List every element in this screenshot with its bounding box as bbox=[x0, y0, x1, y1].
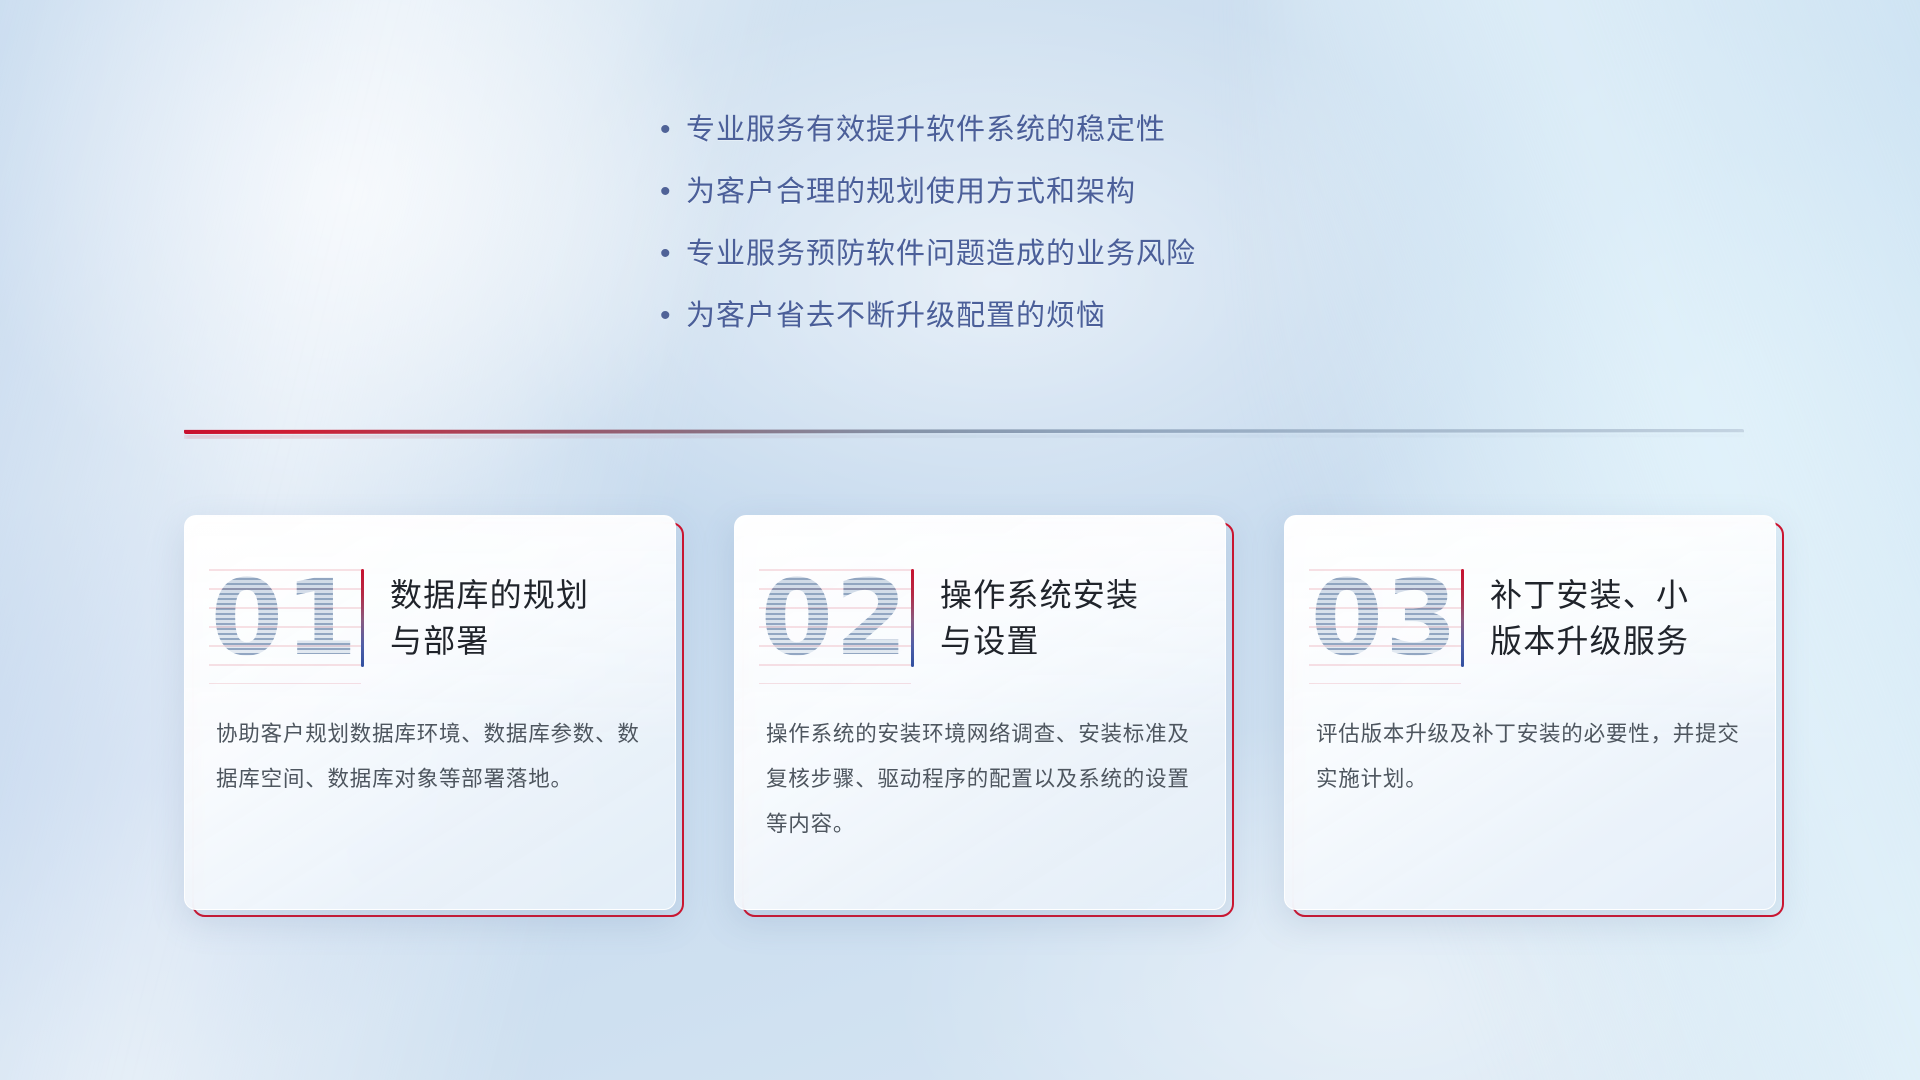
bullet-item-3: • 专业服务预防软件问题造成的业务风险 bbox=[660, 234, 1196, 274]
bullet-item-1: • 专业服务有效提升软件系统的稳定性 bbox=[660, 110, 1196, 150]
bullet-point-icon: • bbox=[660, 296, 686, 336]
card-slot-3: 03 补丁安装、小 版本升级服务 评估版本升级及补丁安装的必要性，并提交实施计划… bbox=[1284, 515, 1776, 910]
service-card-1[interactable]: 01 数据库的规划 与部署 协助客户规划数据库环境、数据库参数、数据库空间、数据… bbox=[184, 515, 676, 910]
card-title: 操作系统安装 与设置 bbox=[940, 572, 1139, 664]
card-number-03: 03 bbox=[1315, 558, 1455, 678]
bullet-text: 专业服务有效提升软件系统的稳定性 bbox=[686, 110, 1166, 150]
bullet-text: 专业服务预防软件问题造成的业务风险 bbox=[686, 234, 1196, 274]
bullet-point-icon: • bbox=[660, 234, 686, 274]
bullet-item-4: • 为客户省去不断升级配置的烦恼 bbox=[660, 296, 1196, 336]
card-header: 01 数据库的规划 与部署 bbox=[185, 548, 675, 688]
bullet-text: 为客户省去不断升级配置的烦恼 bbox=[686, 296, 1106, 336]
card-body-text: 协助客户规划数据库环境、数据库参数、数据库空间、数据库对象等部署落地。 bbox=[216, 712, 647, 802]
title-divider-bar bbox=[361, 569, 364, 667]
bullet-item-2: • 为客户合理的规划使用方式和架构 bbox=[660, 172, 1196, 212]
card-header: 03 补丁安装、小 版本升级服务 bbox=[1285, 548, 1775, 688]
divider-line bbox=[184, 429, 1744, 434]
service-card-2[interactable]: 02 操作系统安装 与设置 操作系统的安装环境网络调查、安装标准及复核步骤、驱动… bbox=[734, 515, 1226, 910]
title-divider-bar bbox=[911, 569, 914, 667]
card-header: 02 操作系统安装 与设置 bbox=[735, 548, 1225, 688]
bullet-list: • 专业服务有效提升软件系统的稳定性 • 为客户合理的规划使用方式和架构 • 专… bbox=[660, 110, 1196, 336]
divider-shadow bbox=[184, 434, 1744, 439]
card-body-text: 评估版本升级及补丁安装的必要性，并提交实施计划。 bbox=[1316, 712, 1747, 802]
service-card-3[interactable]: 03 补丁安装、小 版本升级服务 评估版本升级及补丁安装的必要性，并提交实施计划… bbox=[1284, 515, 1776, 910]
bullet-text: 为客户合理的规划使用方式和架构 bbox=[686, 172, 1136, 212]
card-body-text: 操作系统的安装环境网络调查、安装标准及复核步骤、驱动程序的配置以及系统的设置等内… bbox=[766, 712, 1197, 847]
bullet-point-icon: • bbox=[660, 110, 686, 150]
card-number-02: 02 bbox=[765, 558, 905, 678]
card-title: 补丁安装、小 版本升级服务 bbox=[1490, 572, 1689, 664]
section-divider bbox=[184, 425, 1744, 439]
card-row: 01 数据库的规划 与部署 协助客户规划数据库环境、数据库参数、数据库空间、数据… bbox=[184, 515, 1776, 910]
title-divider-bar bbox=[1461, 569, 1464, 667]
card-slot-1: 01 数据库的规划 与部署 协助客户规划数据库环境、数据库参数、数据库空间、数据… bbox=[184, 515, 676, 910]
card-title: 数据库的规划 与部署 bbox=[390, 572, 589, 664]
bullet-point-icon: • bbox=[660, 172, 686, 212]
card-number-01: 01 bbox=[215, 558, 355, 678]
card-slot-2: 02 操作系统安装 与设置 操作系统的安装环境网络调查、安装标准及复核步骤、驱动… bbox=[734, 515, 1226, 910]
